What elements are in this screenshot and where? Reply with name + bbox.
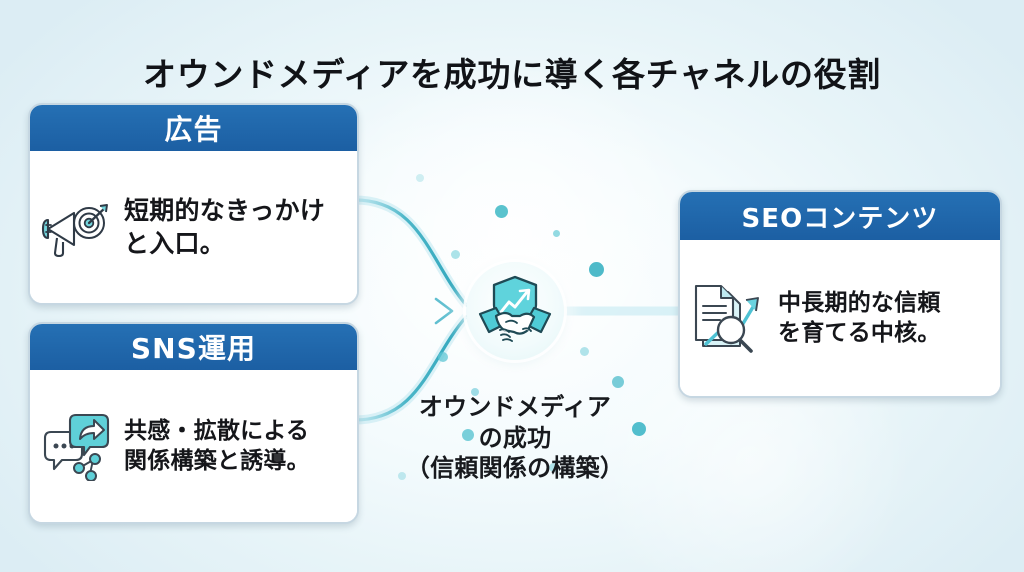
decor-dot bbox=[416, 174, 424, 182]
document-magnifier-growth-icon bbox=[690, 280, 768, 356]
decor-dot bbox=[438, 352, 448, 362]
card-sns-text: 共感・拡散による 関係構築と誘導。 bbox=[124, 416, 310, 477]
card-seo-header: SEOコンテンツ bbox=[680, 192, 1000, 240]
card-advertising-body: 短期的なきっかけ と入口。 bbox=[30, 151, 357, 303]
card-seo-body: 中長期的な信頼 を育てる中核。 bbox=[680, 240, 1000, 396]
infographic-canvas: オウンドメディアを成功に導く各チャネルの役割 広告 bbox=[0, 0, 1024, 572]
card-sns-text-line2: 関係構築と誘導。 bbox=[124, 446, 310, 476]
card-seo-text-line2: を育てる中核。 bbox=[778, 318, 941, 348]
card-seo-text: 中長期的な信頼 を育てる中核。 bbox=[778, 288, 941, 349]
card-advertising[interactable]: 広告 bbox=[28, 103, 359, 305]
decor-dot bbox=[553, 230, 560, 237]
connector-ad-to-hub bbox=[355, 200, 466, 305]
decor-dot bbox=[589, 262, 604, 277]
hub-caption-line3: （信頼関係の構築） bbox=[370, 453, 660, 484]
decor-dot bbox=[495, 205, 508, 218]
card-sns-header: SNS運用 bbox=[30, 324, 357, 370]
card-seo-text-line1: 中長期的な信頼 bbox=[778, 288, 941, 318]
card-sns-text-line1: 共感・拡散による bbox=[124, 416, 310, 446]
card-advertising-text: 短期的なきっかけ と入口。 bbox=[124, 194, 325, 260]
hub-caption-line1: オウンドメディア bbox=[370, 392, 660, 423]
hub-node[interactable] bbox=[466, 262, 564, 360]
speech-bubble-share-icon bbox=[40, 411, 114, 481]
decor-dot bbox=[580, 347, 589, 356]
card-advertising-text-line2: と入口。 bbox=[124, 227, 325, 260]
connector-arrowhead bbox=[436, 299, 452, 323]
card-advertising-header: 広告 bbox=[30, 105, 357, 151]
hub-caption-line2: の成功 bbox=[370, 423, 660, 454]
decor-dot bbox=[612, 376, 624, 388]
card-advertising-text-line1: 短期的なきっかけ bbox=[124, 194, 325, 227]
page-title: オウンドメディアを成功に導く各チャネルの役割 bbox=[0, 48, 1024, 96]
megaphone-target-icon bbox=[40, 196, 114, 258]
card-sns-body: 共感・拡散による 関係構築と誘導。 bbox=[30, 370, 357, 522]
card-sns[interactable]: SNS運用 bbox=[28, 322, 359, 524]
card-seo[interactable]: SEOコンテンツ bbox=[678, 190, 1002, 398]
handshake-shield-growth-icon bbox=[476, 272, 554, 350]
hub-caption: オウンドメディア の成功 （信頼関係の構築） bbox=[370, 392, 660, 484]
decor-dot bbox=[451, 250, 460, 259]
